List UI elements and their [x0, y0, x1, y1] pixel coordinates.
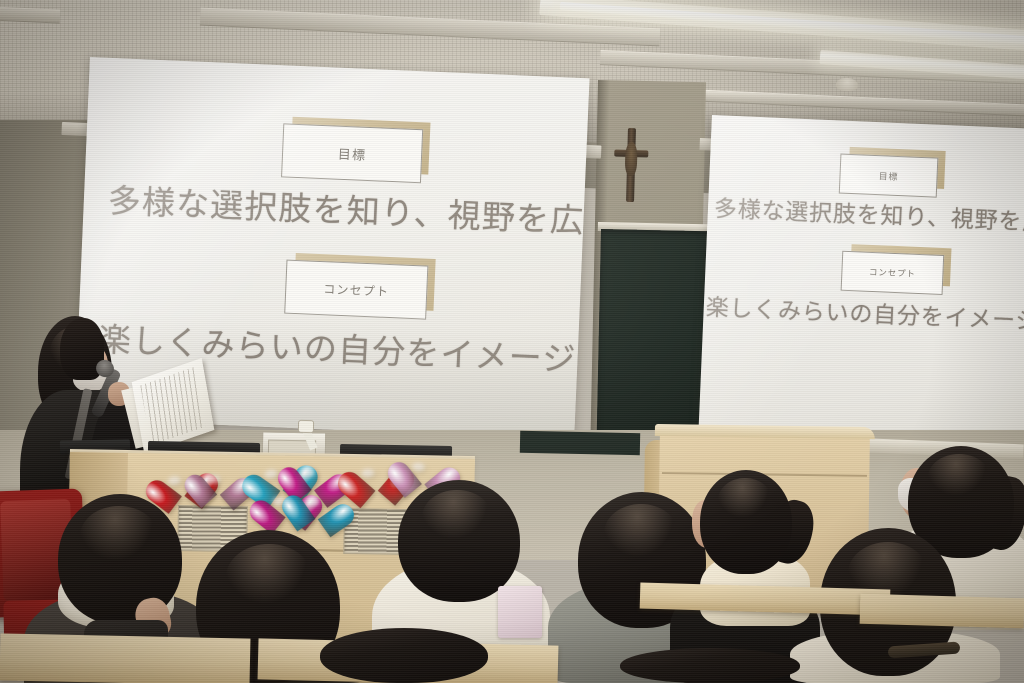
- audience-member-9: [620, 648, 800, 683]
- right-projection-screen: 目標 多様な選択肢を知り、視野を広 コンセプト 楽しくみらいの自分をイメージし: [698, 115, 1024, 459]
- paper-text-lines: [140, 367, 205, 446]
- heart-balloon-teal-2: [295, 490, 341, 532]
- audience-3-hair: [398, 480, 520, 602]
- concept-tag-card: コンセプト: [284, 260, 428, 320]
- heart-balloon-mauve-1: [199, 469, 239, 506]
- desk-row-back-far-right: [860, 594, 1024, 629]
- goal-tag-box: 目標: [281, 123, 421, 181]
- lecture-hall-photo: 目標 多様な選択肢を知り、視野を広げる コンセプト 楽しくみらいの自分をイメージ…: [0, 0, 1024, 683]
- goal-tag-card: 目標: [281, 123, 423, 183]
- concept-tag-box: コンセプト: [284, 260, 426, 318]
- goal-tag-card-right: 目標: [839, 154, 939, 198]
- smoke-detector-icon: [836, 77, 859, 91]
- goal-tag-label: 目標: [337, 143, 366, 163]
- audience-3-desk-item: [498, 586, 542, 638]
- ceiling-air-slot: [0, 6, 60, 23]
- av-knob[interactable]: [298, 420, 314, 433]
- crucifix-icon: [613, 128, 649, 203]
- audience-5-hair: [700, 470, 792, 574]
- concept-tag-label: コンセプト: [323, 280, 390, 300]
- chalkboard: [597, 229, 707, 443]
- concept-statement-right: 楽しくみらいの自分をイメージし: [705, 288, 1024, 337]
- slide-content-right: 目標 多様な選択肢を知り、視野を広 コンセプト 楽しくみらいの自分をイメージし: [698, 115, 1024, 459]
- concept-tag-card-right: コンセプト: [841, 251, 945, 295]
- chalkboard-edge: [520, 431, 640, 456]
- goal-statement-right: 多様な選択肢を知り、視野を広: [713, 189, 1024, 237]
- desk-row-front-left: [0, 633, 250, 683]
- concept-tag-label-right: コンセプト: [869, 266, 916, 280]
- goal-tag-box-right: 目標: [839, 154, 937, 196]
- audience-member-8: [320, 628, 488, 683]
- concept-tag-box-right: コンセプト: [841, 251, 943, 293]
- goal-statement: 多様な選択肢を知り、視野を広げる: [107, 174, 590, 245]
- goal-tag-label-right: 目標: [878, 169, 898, 183]
